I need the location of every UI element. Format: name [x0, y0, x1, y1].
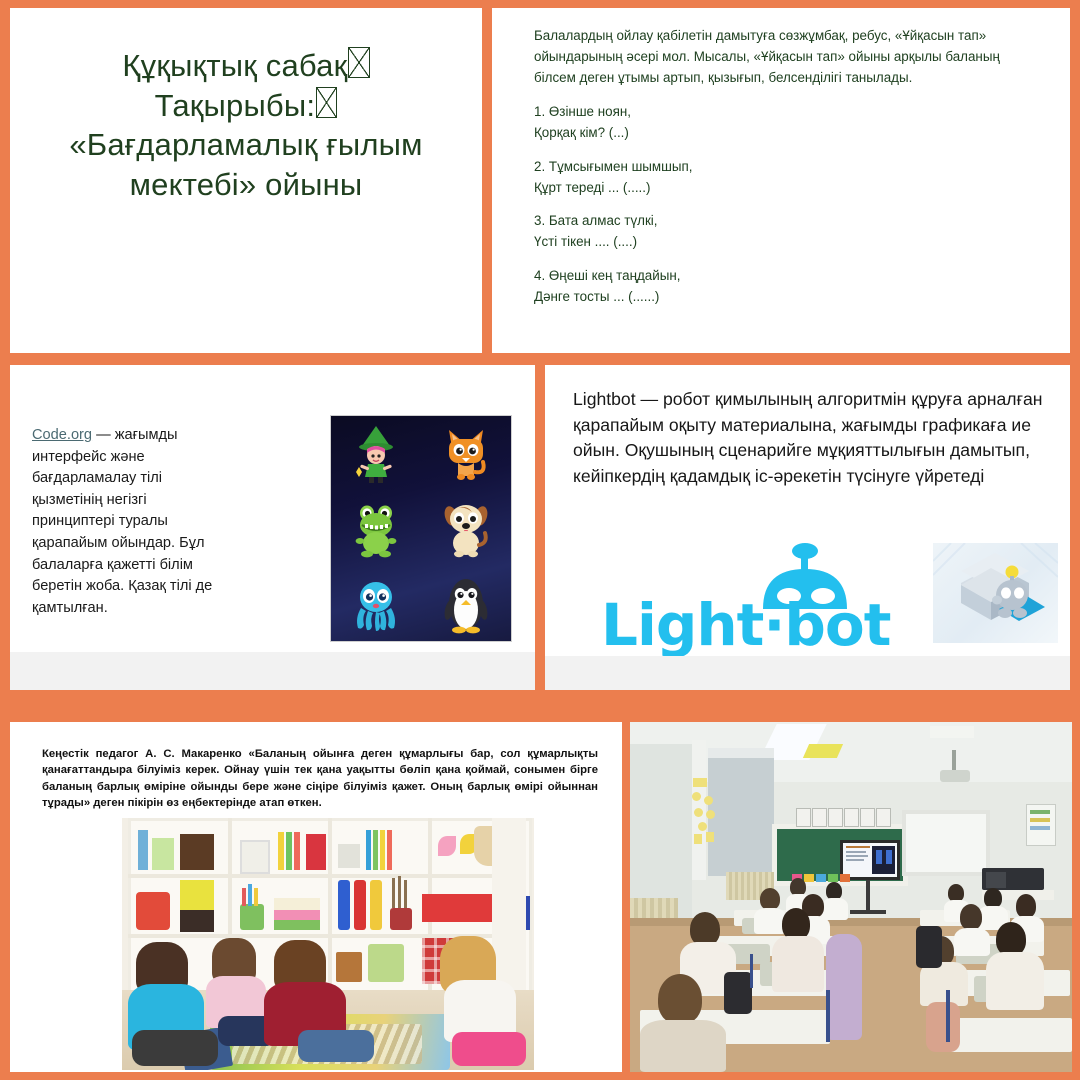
frog-icon [348, 497, 404, 561]
title-slide: Құқықтық сабақ Тақырыбы: «Бағдарламалық … [10, 8, 482, 353]
lightbot-screenshot [933, 543, 1058, 643]
missing-glyph-icon [316, 87, 337, 118]
playroom-scene [122, 818, 534, 1070]
character-witch [331, 416, 421, 491]
dog-icon [438, 497, 494, 561]
lightbot-wordmark: Light·bot [601, 591, 891, 659]
lightbot-level-icon [933, 543, 1058, 643]
makarenko-quote-slide: Кеңестік педагог А. С. Макаренко «Баланы… [10, 722, 622, 1072]
character-penguin [421, 566, 511, 641]
codeorg-description: — жағымды интерфейс және бағдарламалау т… [32, 427, 212, 616]
makarenko-quote-text: Кеңестік педагог А. С. Макаренко «Баланы… [42, 746, 598, 812]
codeorg-paragraph: Code.org — жағымды интерфейс және бағдар… [32, 425, 227, 619]
riddle-item-2: 2. Тұмсығымен шымшып, Құрт тереді ... (.… [534, 157, 1040, 199]
code-org-characters-image [330, 415, 512, 642]
slide-footer-band [545, 656, 1070, 690]
slide-collage: Құқықтық сабақ Тақырыбы: «Бағдарламалық … [0, 0, 1080, 1080]
riddles-slide: Балалардың ойлау қабілетін дамытуға сөзж… [492, 8, 1070, 353]
riddle-item-3: 3. Бата алмас түлкі, Үсті тікен .... (..… [534, 211, 1040, 253]
missing-glyph-icon [348, 47, 369, 78]
classroom-slide [630, 722, 1072, 1072]
riddles-body: Балалардың ойлау қабілетін дамытуға сөзж… [534, 26, 1040, 320]
penguin-icon [438, 572, 494, 636]
character-dog [421, 491, 511, 566]
lightbot-logo: Light·bot [597, 543, 897, 653]
classroom-photo [630, 722, 1072, 1072]
riddle-item-4: 4. Өңеші кең таңдайын, Дәнге тосты ... (… [534, 266, 1040, 308]
codeorg-link[interactable]: Code.org [32, 427, 92, 443]
lightbot-slide: Lightbot — робот қимылының алгоритмін құ… [545, 365, 1070, 690]
riddles-intro: Балалардың ойлау қабілетін дамытуға сөзж… [534, 26, 1040, 88]
riddle-item-1: 1. Өзінше ноян, Қорқақ кім? (...) [534, 102, 1040, 144]
children-board-game-photo [122, 818, 534, 1070]
codeorg-slide: Code.org — жағымды интерфейс және бағдар… [10, 365, 535, 690]
slide-footer-band [10, 652, 535, 690]
page-title: Құқықтық сабақ Тақырыбы: «Бағдарламалық … [10, 46, 482, 205]
witch-icon [348, 422, 404, 486]
character-frog [331, 491, 421, 566]
lightbot-paragraph: Lightbot — робот қимылының алгоритмін құ… [573, 387, 1066, 489]
character-cat [421, 416, 511, 491]
cat-icon [438, 422, 494, 486]
octopus-icon [348, 572, 404, 636]
character-octopus [331, 566, 421, 641]
